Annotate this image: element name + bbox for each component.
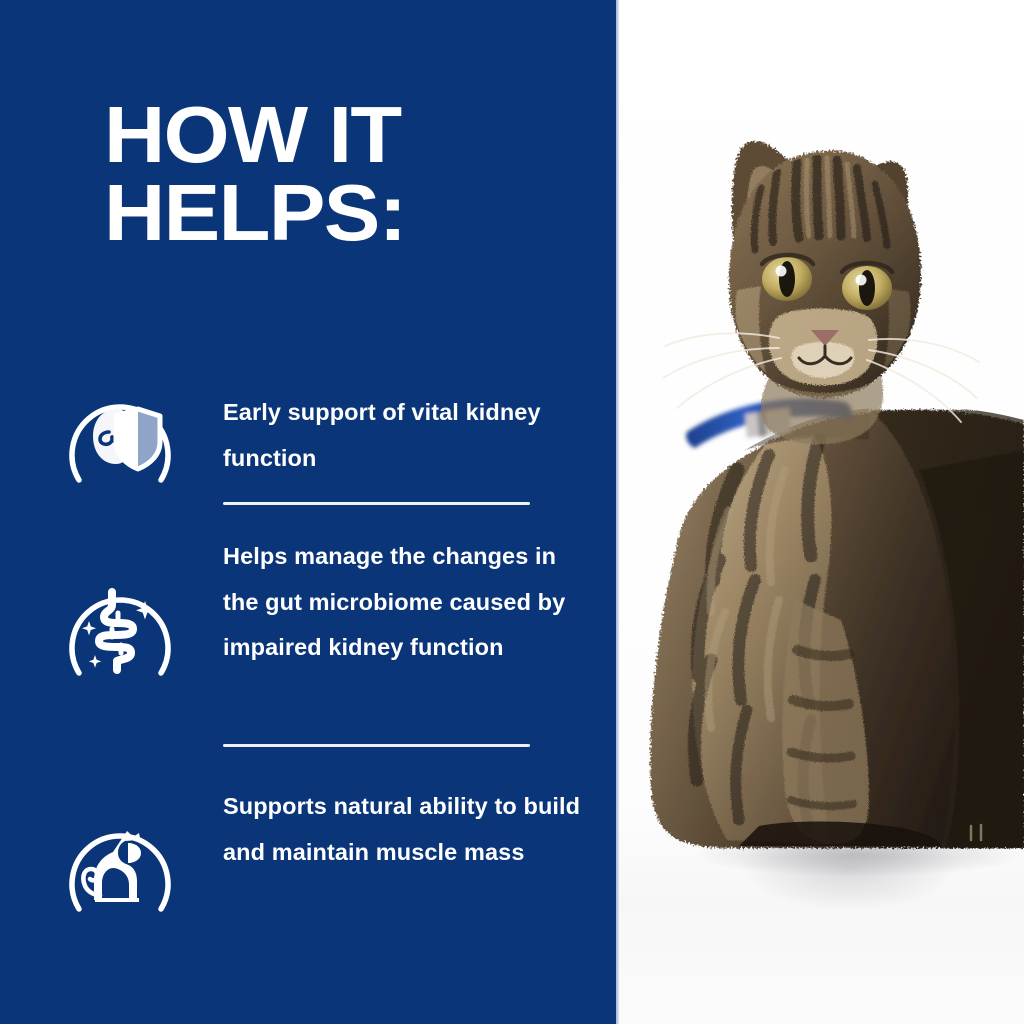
benefit-text-1: Early support of vital kidney function — [223, 390, 593, 481]
page-title-line-1: HOW IT — [104, 90, 401, 179]
benefit-text-3: Supports natural ability to build and ma… — [223, 784, 593, 875]
page-title-line-2: HELPS: — [104, 174, 602, 252]
promo-card: HOW IT HELPS: — [0, 0, 1024, 1024]
page-title: HOW IT HELPS: — [104, 96, 602, 251]
sitting-cat-icon — [55, 803, 185, 933]
benefit-divider-1 — [223, 502, 530, 505]
cat-illustration — [619, 0, 1024, 1024]
benefit-text-2: Helps manage the changes in the gut micr… — [223, 534, 593, 671]
benefit-divider-2 — [223, 744, 530, 747]
kidney-shield-icon — [55, 372, 185, 502]
cat-photo — [619, 0, 1024, 1024]
gut-microbiome-icon — [55, 565, 185, 695]
